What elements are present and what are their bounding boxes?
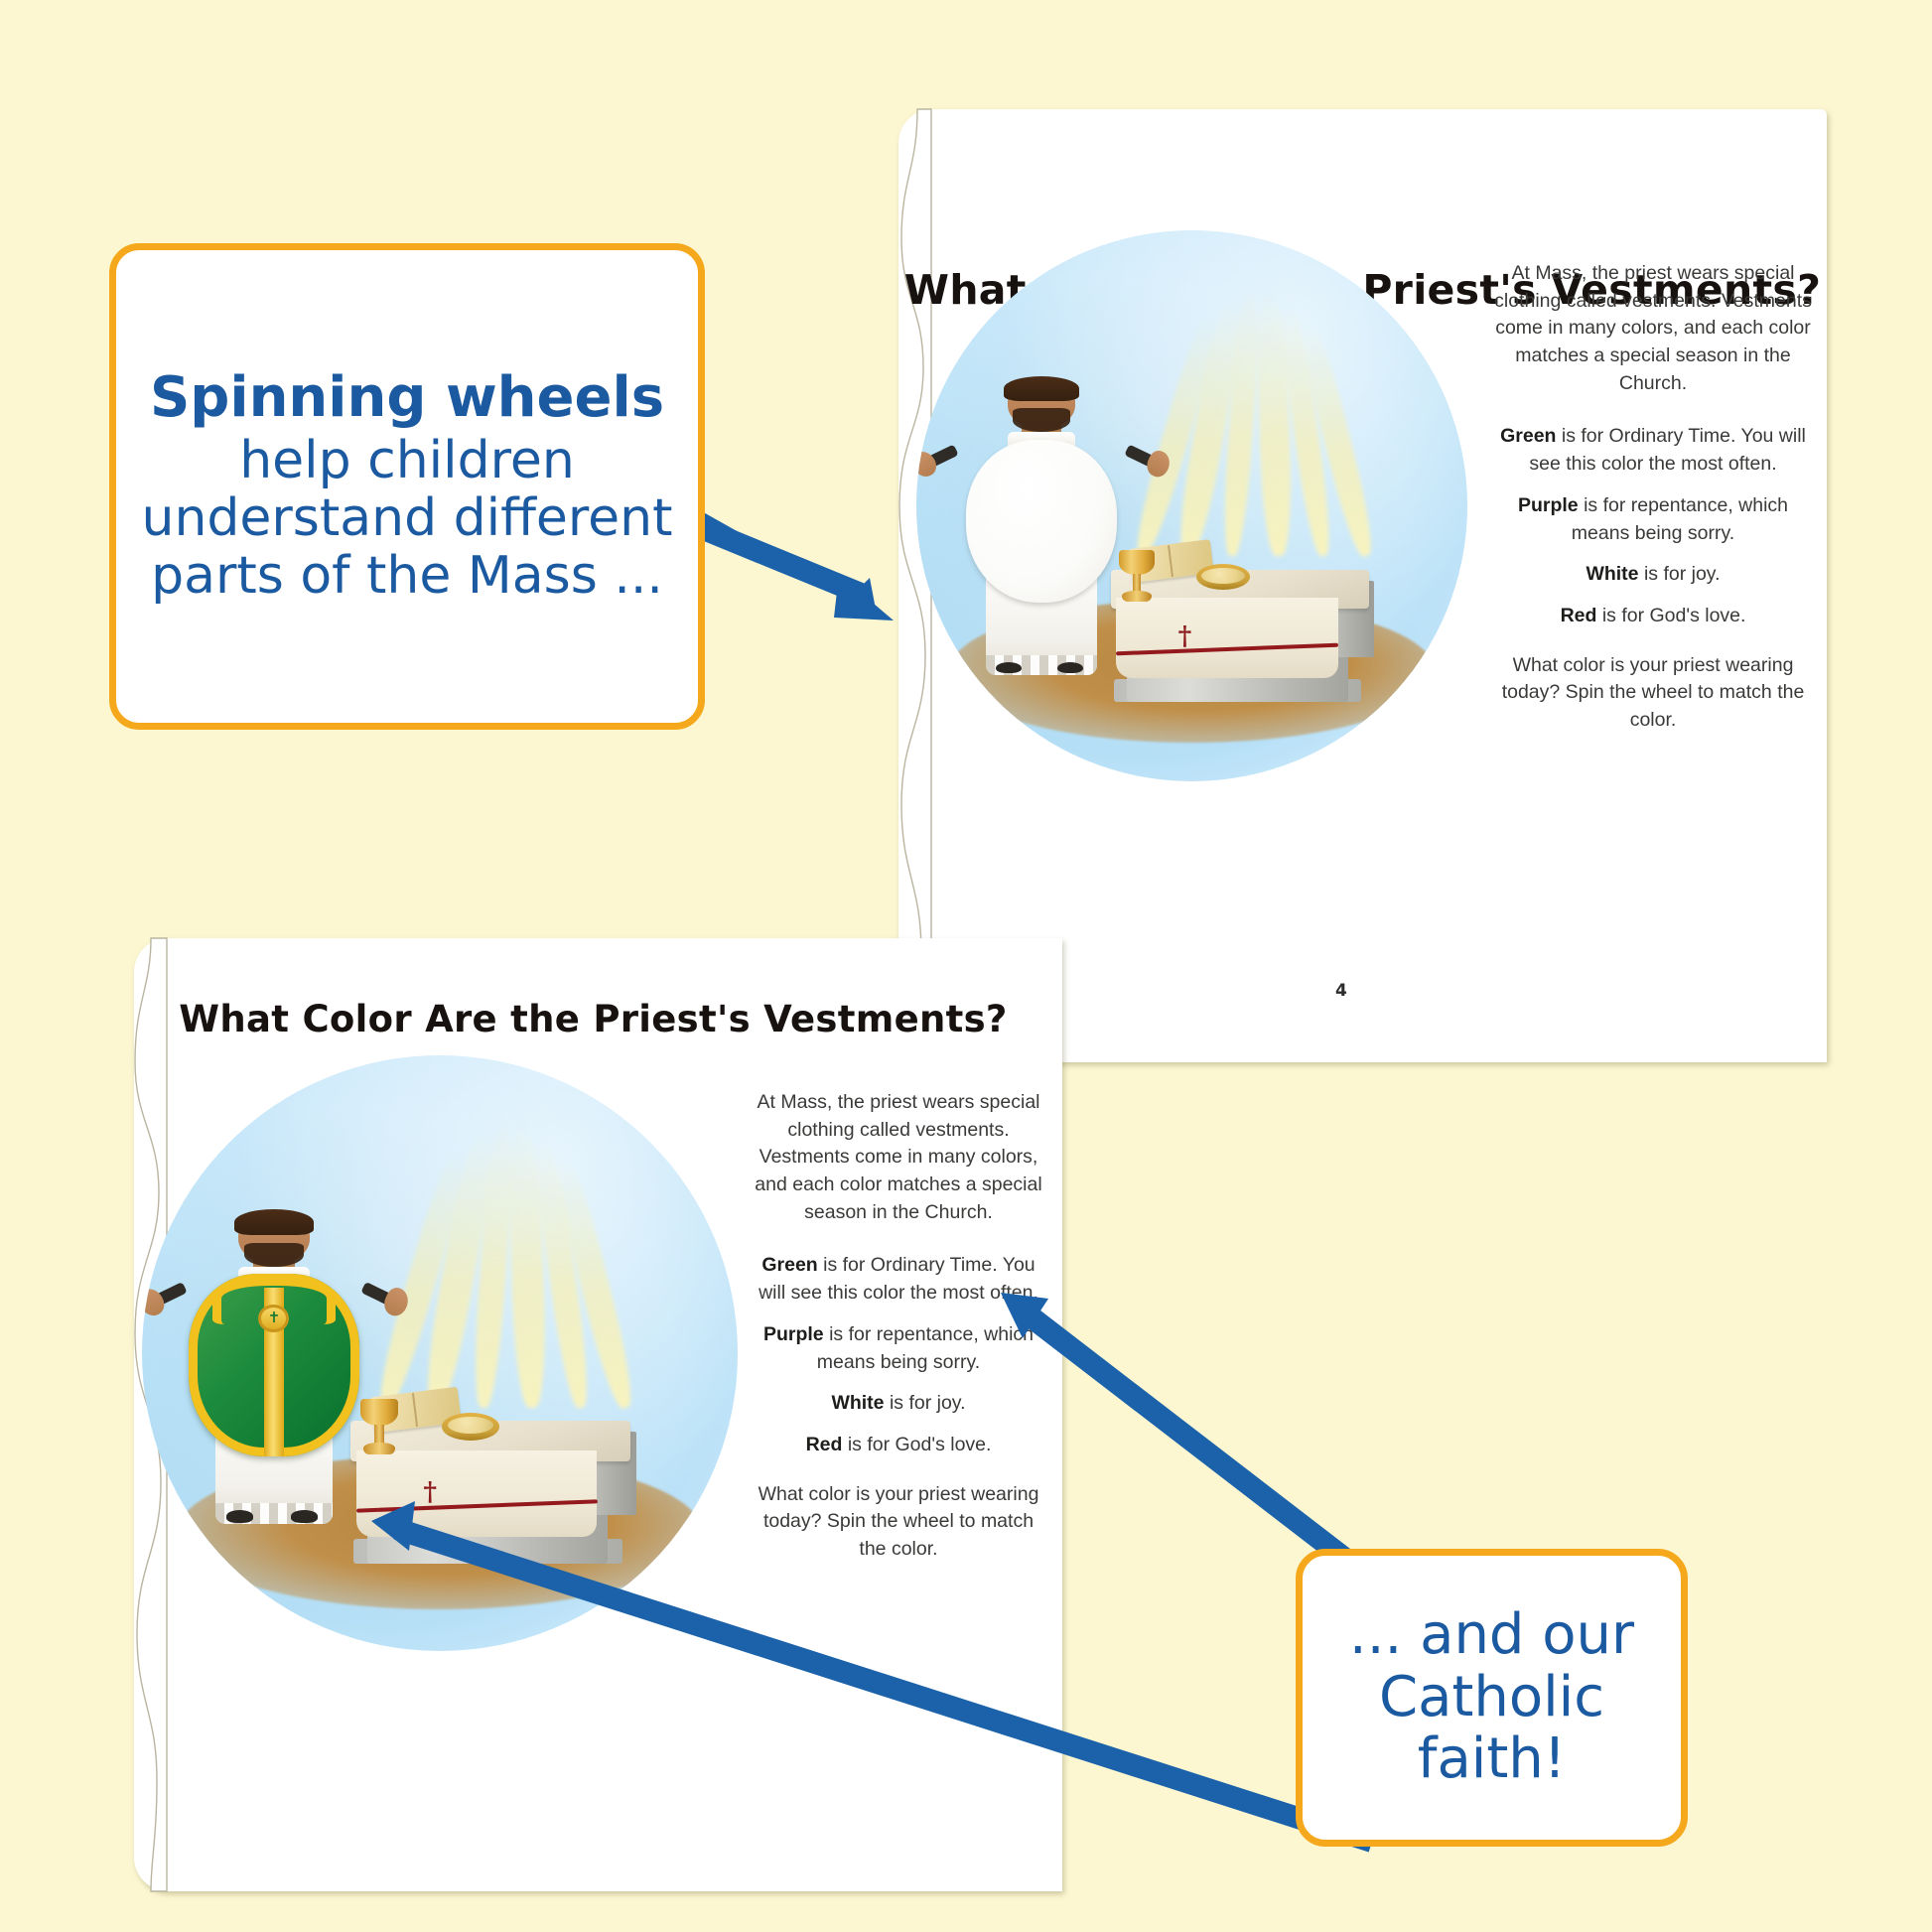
callout-rest: help children understand different parts… bbox=[142, 431, 673, 606]
body-lead: At Mass, the priest wears special clothi… bbox=[750, 1089, 1047, 1226]
page-body-text: At Mass, the priest wears special clothi… bbox=[1494, 260, 1812, 735]
body-closing: What color is your priest wearing today?… bbox=[1494, 652, 1812, 735]
callout-text: ... and our Catholic faith! bbox=[1303, 1604, 1681, 1791]
illustration-green-vestments: † bbox=[142, 1055, 738, 1651]
page-title: What Color Are the Priest's Vestments? bbox=[124, 998, 1062, 1040]
color-word-red: Red bbox=[806, 1434, 843, 1455]
color-word-purple: Purple bbox=[1518, 494, 1579, 516]
altar: † bbox=[1111, 528, 1369, 702]
callout-emphasis: Spinning wheels bbox=[134, 367, 680, 430]
altar-cross-icon: † bbox=[423, 1479, 437, 1505]
priest-figure-green bbox=[170, 1212, 378, 1518]
priest-beard bbox=[244, 1243, 305, 1268]
altar-cross-icon: † bbox=[1178, 623, 1192, 649]
altar-cloth bbox=[1116, 598, 1338, 678]
altar: † bbox=[350, 1375, 630, 1564]
body-item-white: White is for joy. bbox=[1494, 561, 1812, 589]
color-word-white: White bbox=[831, 1392, 884, 1414]
body-closing: What color is your priest wearing today?… bbox=[750, 1481, 1047, 1564]
body-item-purple: Purple is for repentance, which means be… bbox=[750, 1321, 1047, 1376]
color-word-white: White bbox=[1586, 563, 1638, 585]
book-page-green-vestments: What Color Are the Priest's Vestments? † bbox=[134, 938, 1062, 1891]
paten-icon bbox=[442, 1413, 499, 1441]
body-item-white: White is for joy. bbox=[750, 1390, 1047, 1418]
illustration-white-vestments: † bbox=[916, 230, 1467, 781]
body-item-green: Green is for Ordinary Time. You will see… bbox=[1494, 423, 1812, 478]
color-word-green: Green bbox=[761, 1254, 817, 1276]
light-rays bbox=[355, 1110, 673, 1408]
callout-spinning-wheels[interactable]: Spinning wheels help children understand… bbox=[109, 243, 705, 730]
priest-hair bbox=[1004, 376, 1079, 401]
paten-icon bbox=[1196, 564, 1250, 590]
callout-rest: ... and our Catholic faith! bbox=[1349, 1602, 1634, 1791]
callout-text: Spinning wheels help children understand… bbox=[116, 367, 698, 605]
priest-hair bbox=[234, 1209, 314, 1235]
body-item-red: Red is for God's love. bbox=[750, 1432, 1047, 1459]
book-page-white-vestments: What Color Are the Priest's Vestments? bbox=[898, 109, 1827, 1062]
chasuble-medallion-icon bbox=[258, 1305, 289, 1332]
light-rays bbox=[1115, 278, 1413, 556]
body-item-purple: Purple is for repentance, which means be… bbox=[1494, 492, 1812, 547]
promo-canvas: What Color Are the Priest's Vestments? bbox=[0, 0, 1932, 1932]
page-number: 4 bbox=[1335, 981, 1347, 1001]
color-word-purple: Purple bbox=[763, 1323, 824, 1345]
priest-chasuble-green bbox=[189, 1274, 359, 1457]
priest-figure-white bbox=[942, 379, 1141, 669]
altar-cloth bbox=[356, 1450, 598, 1537]
color-word-green: Green bbox=[1500, 425, 1556, 447]
body-item-green: Green is for Ordinary Time. You will see… bbox=[750, 1252, 1047, 1307]
color-word-red: Red bbox=[1561, 605, 1597, 626]
body-item-red: Red is for God's love. bbox=[1494, 603, 1812, 630]
callout-catholic-faith[interactable]: ... and our Catholic faith! bbox=[1296, 1549, 1688, 1847]
page-body-text: At Mass, the priest wears special clothi… bbox=[750, 1089, 1047, 1564]
priest-beard bbox=[1013, 408, 1070, 431]
body-lead: At Mass, the priest wears special clothi… bbox=[1494, 260, 1812, 397]
priest-chasuble-white bbox=[966, 440, 1117, 603]
